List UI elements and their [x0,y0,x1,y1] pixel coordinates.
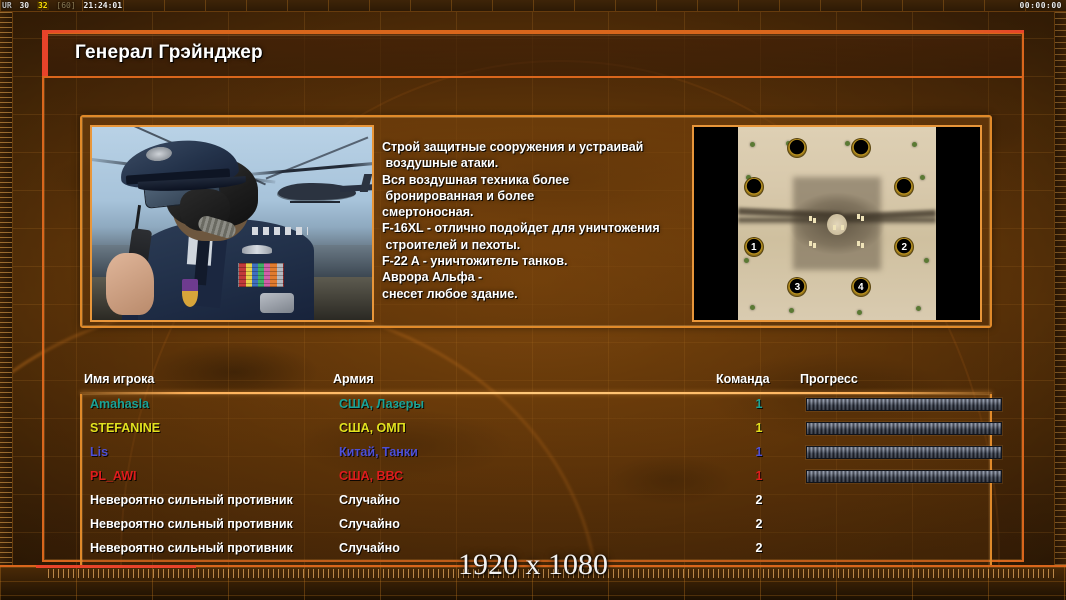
map-supply-icon [857,241,860,246]
map-supply-icon [833,225,836,230]
helicopter-skid-icon [290,201,340,203]
portrait-wings-badge-icon [242,245,272,254]
player-team: 1 [750,397,768,411]
map-tree-icon [845,141,850,146]
map-supply-icon [857,214,860,219]
player-name: Lis [90,445,108,459]
progress-bar [806,446,1002,459]
table-row[interactable]: PL_AWIСША, ВВС1 [82,466,990,490]
map-start-position: 3 [787,277,807,297]
status-right-timer: 00:00:00 [1019,0,1062,12]
player-team: 2 [750,517,768,531]
map-start-position [851,138,871,158]
column-header-team: Команда [716,372,770,386]
map-tree-icon [789,308,794,313]
left-ruler-strip [0,12,13,565]
table-row[interactable]: AmahaslaСША, Лазеры1 [82,394,990,418]
player-name: Невероятно сильный противник [90,493,293,507]
player-name: STEFANINE [90,421,160,435]
map-supply-icon [813,243,816,248]
player-progress [806,397,1002,411]
helicopter-rotor2-icon [266,136,369,179]
map-start-position: 1 [744,237,764,257]
status-clock: 21:24:01 [84,1,123,10]
player-army: США, ВВС [339,469,403,483]
map-supply-icon [809,216,812,221]
player-team: 1 [750,469,768,483]
map-start-position [894,177,914,197]
player-name: Невероятно сильный противник [90,517,293,531]
player-army: США, Лазеры [339,397,424,411]
status-tag: UR [2,1,12,10]
map-preview[interactable]: 1234 [692,125,982,322]
player-army: Китай, Танки [339,445,418,459]
status-bar-grid [0,0,1066,11]
general-portrait-frame [90,125,374,322]
map-start-position [787,138,807,158]
status-bar: UR 30 32 [60] 21:24:01 00:00:00 [0,0,1066,12]
map-start-position: 2 [894,237,914,257]
player-army: Случайно [339,517,400,531]
map-tree-icon [916,306,921,311]
table-row[interactable]: Невероятно сильный противникСлучайно2 [82,490,990,514]
map-supply-icon [861,216,864,221]
map-start-position [744,177,764,197]
progress-bar [806,470,1002,483]
general-info-panel: Строй защитные сооружения и устраивай во… [80,115,992,328]
player-name: Amahasla [90,397,149,411]
status-cap: [60] [56,1,75,10]
right-ruler-ticks [1055,12,1066,565]
general-description: Строй защитные сооружения и устраивай во… [382,139,692,302]
map-tree-icon [857,310,862,315]
player-team: 1 [750,421,768,435]
progress-bar [806,398,1002,411]
map-tree-icon [750,142,755,147]
column-header-army: Армия [333,372,374,386]
player-army: США, ОМП [339,421,406,435]
column-header-name: Имя игрока [84,372,154,386]
map-supply-icon [813,218,816,223]
player-name: PL_AWI [90,469,137,483]
map-start-position: 4 [851,277,871,297]
map-tree-icon [912,142,917,147]
player-progress [806,445,1002,459]
portrait-rank-stars-icon [252,227,308,235]
portrait-belt-buckle [260,293,294,313]
player-table-header: Имя игрока Армия Команда Прогресс [80,372,992,392]
page-title: Генерал Грэйнджер [75,42,263,64]
right-ruler-strip [1054,12,1066,565]
map-supply-icon [809,241,812,246]
hud-frame: Генерал Грэйнджер [42,32,1024,562]
map-terrain: 1234 [738,127,936,320]
player-progress [806,421,1002,435]
map-tree-icon [924,258,929,263]
table-row[interactable]: LisКитай, Танки1 [82,442,990,466]
player-team: 1 [750,445,768,459]
general-portrait-image [92,127,372,320]
status-bar-left: UR 30 32 [60] 21:24:01 [2,0,125,12]
game-screen: UR 30 32 [60] 21:24:01 00:00:00 Генерал … [0,0,1066,600]
player-team: 2 [750,493,768,507]
status-value-2: 32 [37,1,49,10]
table-row[interactable]: STEFANINEСША, ОМП1 [82,418,990,442]
player-army: Случайно [339,493,400,507]
left-ruler-ticks [0,12,12,565]
frame-left-accent [42,30,48,76]
frame-top-accent [42,30,1024,33]
map-letterbox-right [936,127,980,320]
portrait-ribbon-rack [238,263,284,287]
map-supply-icon [841,225,844,230]
map-tree-icon [744,258,749,263]
map-tree-icon [920,175,925,180]
map-supply-icon [861,243,864,248]
status-value-1: 30 [19,1,29,10]
table-row[interactable]: Невероятно сильный противникСлучайно2 [82,514,990,538]
title-bar: Генерал Грэйнджер [44,34,1022,78]
helicopter-rotor-icon [242,160,374,176]
resolution-label: 1920 x 1080 [0,548,1066,582]
map-tree-icon [750,305,755,310]
player-progress [806,469,1002,483]
progress-bar [806,422,1002,435]
portrait-hand [106,253,154,315]
column-header-progress: Прогресс [800,372,858,386]
portrait-medal-icon [182,279,198,307]
map-letterbox-left [694,127,738,320]
